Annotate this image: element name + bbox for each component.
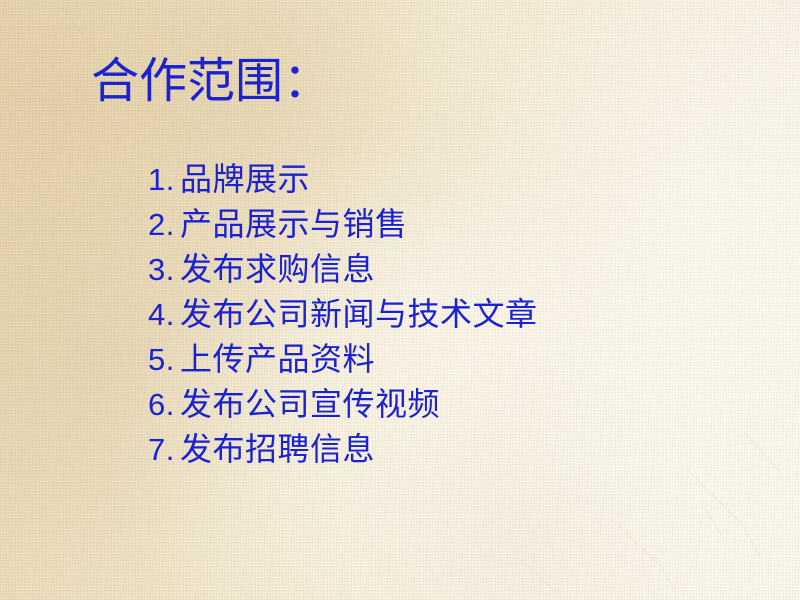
bullet-item-label: 发布招聘信息	[180, 427, 375, 472]
slide-content: 合作范围： 1. 品牌展示 2. 产品展示与销售 3. 发布求购信息 4. 发布…	[0, 0, 800, 600]
presentation-slide: 合作范围： 1. 品牌展示 2. 产品展示与销售 3. 发布求购信息 4. 发布…	[0, 0, 800, 600]
bullet-number: 2.	[148, 202, 180, 247]
bullet-item-label: 品牌展示	[180, 157, 310, 202]
bullet-item-label: 发布公司宣传视频	[180, 382, 440, 427]
bullet-item-1: 1. 品牌展示	[148, 157, 538, 202]
bullet-item-5: 5. 上传产品资料	[148, 337, 538, 382]
bullet-item-3: 3. 发布求购信息	[148, 247, 538, 292]
bullet-number: 7.	[148, 427, 180, 472]
bullet-item-7: 7. 发布招聘信息	[148, 427, 538, 472]
bullet-number: 3.	[148, 247, 180, 292]
bullet-item-4: 4. 发布公司新闻与技术文章	[148, 292, 538, 337]
bullet-number: 1.	[148, 157, 180, 202]
bullet-item-label: 发布公司新闻与技术文章	[180, 292, 538, 337]
slide-title: 合作范围：	[91, 55, 331, 109]
bullet-list: 1. 品牌展示 2. 产品展示与销售 3. 发布求购信息 4. 发布公司新闻与技…	[148, 157, 538, 472]
bullet-item-label: 上传产品资料	[180, 337, 375, 382]
bullet-number: 6.	[148, 382, 180, 427]
bullet-number: 4.	[148, 292, 180, 337]
bullet-item-6: 6. 发布公司宣传视频	[148, 382, 538, 427]
bullet-item-label: 产品展示与销售	[180, 202, 408, 247]
bullet-item-2: 2. 产品展示与销售	[148, 202, 538, 247]
bullet-number: 5.	[148, 337, 180, 382]
bullet-item-label: 发布求购信息	[180, 247, 375, 292]
